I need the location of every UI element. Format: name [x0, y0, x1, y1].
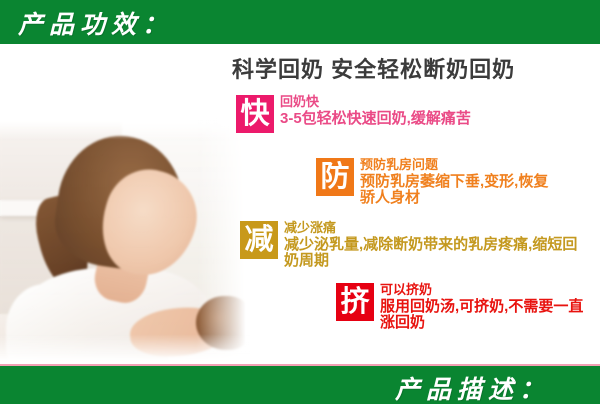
feature-text-fast: 回奶快 3-5包轻松快速回奶,缓解痛苦: [280, 95, 540, 127]
feature-title-pump: 可以挤奶: [380, 283, 595, 298]
feature-text-prevent: 预防乳房问题 预防乳房萎缩下垂,变形,恢复骄人身材: [360, 158, 550, 207]
feature-desc-reduce: 减少泌乳量,减除断奶带来的乳房疼痛,缩短回奶周期: [284, 237, 584, 271]
product-benefits-banner: 产品功效： 科学回奶 安全轻松断奶回奶 快 回奶快 3-5包轻松快速回奶,缓解痛…: [0, 0, 600, 404]
feature-row-fast: 快 回奶快 3-5包轻松快速回奶,缓解痛苦: [236, 95, 540, 133]
section-title-description: 产品描述：: [395, 370, 550, 404]
feature-desc-prevent: 预防乳房萎缩下垂,变形,恢复骄人身材: [360, 174, 550, 208]
feature-text-reduce: 减少涨痛 减少泌乳量,减除断奶带来的乳房疼痛,缩短回奶周期: [284, 221, 584, 270]
feature-title-fast: 回奶快: [280, 95, 540, 110]
mother-baby-photo: [0, 118, 250, 364]
top-green-banner: 产品功效：: [0, 0, 600, 44]
feature-title-prevent: 预防乳房问题: [360, 158, 550, 173]
feature-row-reduce: 减 减少涨痛 减少泌乳量,减除断奶带来的乳房疼痛,缩短回奶周期: [240, 221, 584, 270]
feature-badge-fast: 快: [236, 95, 274, 133]
feature-badge-prevent: 防: [316, 158, 354, 196]
section-title-benefits: 产品功效：: [18, 5, 173, 41]
feature-row-prevent: 防 预防乳房问题 预防乳房萎缩下垂,变形,恢复骄人身材: [316, 158, 550, 207]
feature-text-pump: 可以挤奶 服用回奶汤,可挤奶,不需要一直涨回奶: [380, 283, 595, 332]
feature-badge-pump: 挤: [336, 283, 374, 321]
feature-title-reduce: 减少涨痛: [284, 221, 584, 236]
photo-fade-bottom: [0, 334, 250, 364]
feature-badge-reduce: 减: [240, 221, 278, 259]
feature-desc-fast: 3-5包轻松快速回奶,缓解痛苦: [280, 111, 540, 128]
feature-desc-pump: 服用回奶汤,可挤奶,不需要一直涨回奶: [380, 299, 595, 333]
bottom-green-banner: 产品描述：: [0, 364, 600, 404]
feature-row-pump: 挤 可以挤奶 服用回奶汤,可挤奶,不需要一直涨回奶: [336, 283, 595, 332]
headline: 科学回奶 安全轻松断奶回奶: [232, 52, 515, 84]
